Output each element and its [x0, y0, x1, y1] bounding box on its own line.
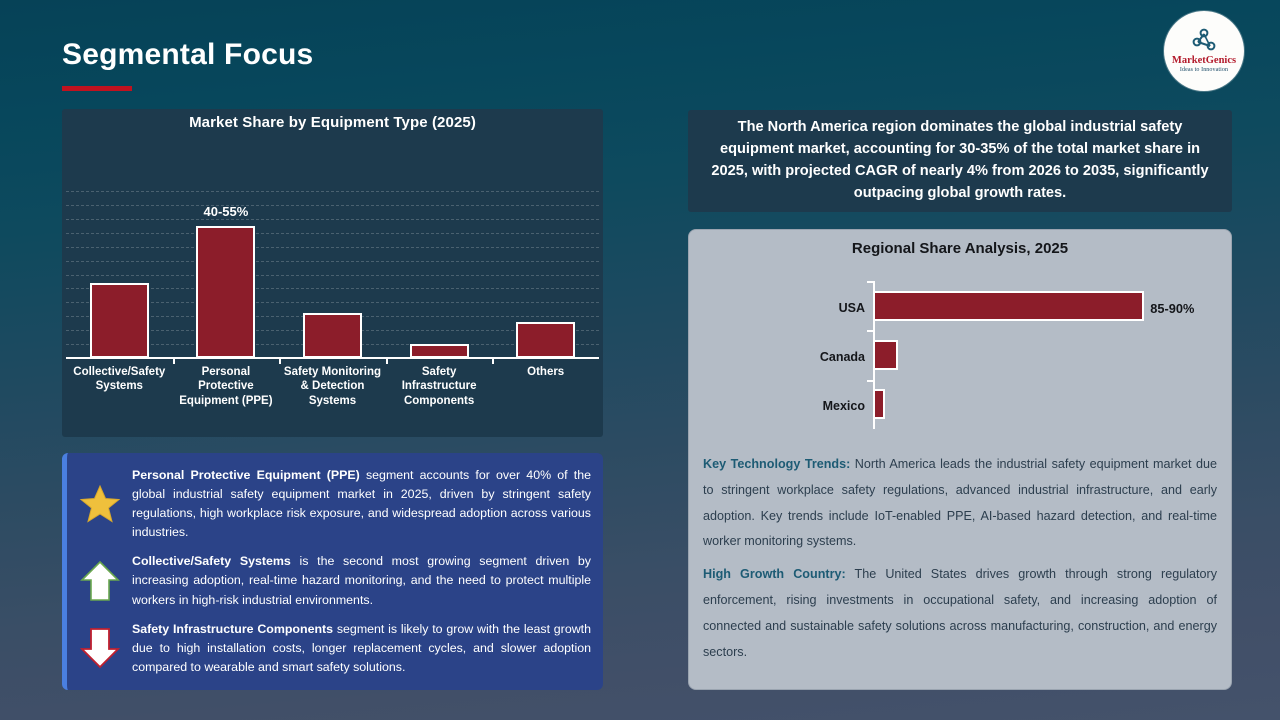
insight-text: Collective/Safety Systems is the second … [132, 552, 591, 610]
bar: USA85-90% [873, 291, 1144, 321]
gridline [66, 275, 599, 276]
gridline [66, 219, 599, 220]
regional-analysis-card: Regional Share Analysis, 2025 USA85-90%C… [688, 229, 1232, 690]
axis-tick [492, 357, 494, 364]
insight-item: Collective/Safety Systems is the second … [77, 552, 591, 610]
axis-tick [867, 330, 875, 332]
x-axis-category-label: Others [492, 365, 599, 379]
right-chart-title: Regional Share Analysis, 2025 [703, 240, 1217, 257]
insight-lead: Collective/Safety Systems [132, 554, 291, 568]
insight-lead: Safety Infrastructure Components [132, 622, 333, 636]
gridline [66, 247, 599, 248]
bar: Mexico [873, 389, 885, 419]
x-axis-category-label: Personal Protective Equipment (PPE) [173, 365, 280, 408]
high-growth-country-paragraph: High Growth Country: The United States d… [703, 562, 1217, 665]
left-chart-plot-area: 40-55% [66, 191, 599, 358]
y-axis-category-label: Canada [820, 350, 865, 364]
key-technology-trends-paragraph: Key Technology Trends: North America lea… [703, 452, 1217, 555]
insight-text: Safety Infrastructure Components segment… [132, 620, 591, 678]
regional-share-plot-area: USA85-90%CanadaMexico [703, 263, 1217, 438]
gridline [66, 233, 599, 234]
y-axis-category-label: USA [839, 301, 865, 315]
bar [303, 313, 362, 358]
insight-item: Safety Infrastructure Components segment… [77, 620, 591, 678]
bar [516, 322, 575, 358]
star-icon [77, 484, 123, 524]
page-title: Segmental Focus [62, 38, 313, 72]
paragraph-lead: Key Technology Trends: [703, 457, 850, 471]
bar [196, 226, 255, 358]
axis-tick [173, 357, 175, 364]
axis-tick [867, 281, 875, 283]
market-share-chart-card: Market Share by Equipment Type (2025) 40… [62, 109, 603, 437]
axis-tick [386, 357, 388, 364]
gridline [66, 205, 599, 206]
insight-text: Personal Protective Equipment (PPE) segm… [132, 466, 591, 543]
x-axis-category-label: Safety Monitoring & Detection Systems [279, 365, 386, 408]
insight-item: Personal Protective Equipment (PPE) segm… [77, 466, 591, 543]
network-nodes-icon [1189, 27, 1219, 55]
key-insights-panel: Personal Protective Equipment (PPE) segm… [62, 453, 603, 690]
x-axis-category-label: Collective/Safety Systems [66, 365, 173, 394]
bar [410, 344, 469, 358]
axis-tick [279, 357, 281, 364]
region-summary-banner: The North America region dominates the g… [688, 110, 1232, 212]
x-axis-category-label: Safety Infrastructure Components [386, 365, 493, 408]
gridline [66, 191, 599, 192]
region-summary-text: The North America region dominates the g… [702, 117, 1218, 205]
bar: Canada [873, 340, 898, 370]
bar-value-label: 85-90% [1150, 301, 1194, 316]
axis-tick [867, 380, 875, 382]
left-chart-title: Market Share by Equipment Type (2025) [62, 109, 603, 131]
y-axis-category-label: Mexico [823, 399, 865, 413]
title-underline-accent [62, 86, 132, 91]
gridline [66, 261, 599, 262]
paragraph-lead: High Growth Country: [703, 567, 846, 581]
bar-value-label: 40-55% [166, 204, 286, 219]
logo-name: MarketGenics [1172, 56, 1236, 67]
arrow-down-icon [77, 626, 123, 670]
bar [90, 283, 149, 358]
arrow-up-icon [77, 559, 123, 603]
insight-lead: Personal Protective Equipment (PPE) [132, 468, 360, 482]
left-chart-x-axis [66, 357, 599, 359]
logo-tagline: Ideas to Innovation [1180, 67, 1228, 75]
company-logo: MarketGenics Ideas to Innovation [1164, 11, 1244, 91]
